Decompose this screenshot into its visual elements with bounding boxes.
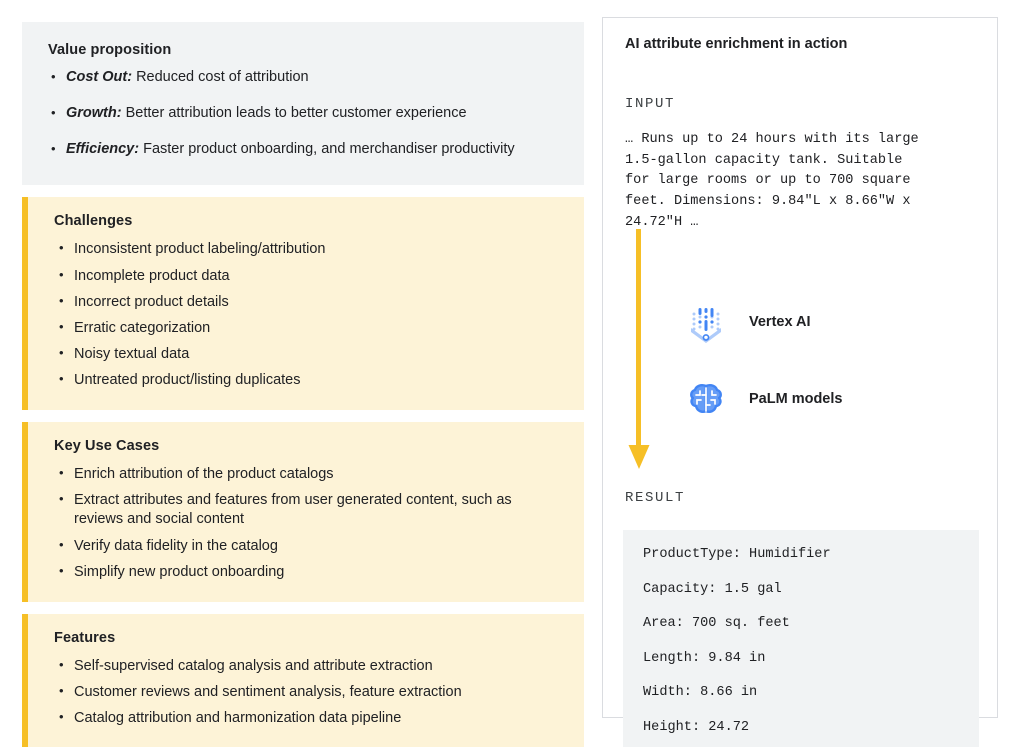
down-arrow-icon (625, 229, 653, 474)
list-item: Verify data fidelity in the catalog (54, 537, 558, 556)
list-item: Catalog attribution and harmonization da… (54, 709, 558, 728)
bullet-text: Better attribution leads to better custo… (122, 105, 467, 121)
list-item: Growth: Better attribution leads to bett… (48, 104, 558, 123)
result-line: Capacity: 1.5 gal (643, 583, 959, 597)
bullet-list-key-use-cases: Enrich attribution of the product catalo… (54, 465, 558, 582)
card-title-challenges: Challenges (54, 213, 558, 229)
slide-canvas: Value proposition Cost Out: Reduced cost… (0, 0, 1024, 747)
card-features: Features Self-supervised catalog analysi… (22, 614, 584, 747)
bullet-text: Faster product onboarding, and merchandi… (139, 141, 515, 157)
list-item: Incomplete product data (54, 267, 558, 286)
model-label-palm-models: PaLM models (749, 391, 842, 407)
card-challenges: Challenges Inconsistent product labeling… (22, 197, 584, 410)
card-title-features: Features (54, 630, 558, 646)
list-item: Extract attributes and features from use… (54, 491, 558, 529)
result-line: Length: 9.84 in (643, 652, 959, 666)
model-row-vertex-ai: Vertex AI (685, 301, 811, 343)
list-item: Enrich attribution of the product catalo… (54, 465, 558, 484)
bullet-list-challenges: Inconsistent product labeling/attributio… (54, 240, 558, 390)
list-item: Erratic categorization (54, 319, 558, 338)
result-line: Height: 24.72 (643, 721, 959, 735)
bullet-text: Reduced cost of attribution (132, 69, 309, 85)
list-item: Simplify new product onboarding (54, 563, 558, 582)
bullet-lead: Cost Out: (66, 69, 132, 85)
result-line: ProductType: Humidifier (643, 548, 959, 562)
bullet-list-value-proposition: Cost Out: Reduced cost of attribution Gr… (48, 68, 558, 159)
model-label-vertex-ai: Vertex AI (749, 314, 811, 330)
input-text: … Runs up to 24 hours with its large 1.5… (625, 130, 985, 233)
result-section-label: RESULT (625, 490, 685, 506)
bullet-lead: Efficiency: (66, 141, 139, 157)
bullet-lead: Growth: (66, 105, 122, 121)
card-key-use-cases: Key Use Cases Enrich attribution of the … (22, 422, 584, 602)
bullet-list-features: Self-supervised catalog analysis and att… (54, 657, 558, 728)
list-item: Incorrect product details (54, 293, 558, 312)
list-item: Self-supervised catalog analysis and att… (54, 657, 558, 676)
list-item: Cost Out: Reduced cost of attribution (48, 68, 558, 87)
left-column: Value proposition Cost Out: Reduced cost… (22, 22, 584, 747)
result-box: ProductType: Humidifier Capacity: 1.5 ga… (623, 530, 979, 747)
palm-models-icon (685, 378, 727, 420)
vertex-ai-icon (685, 301, 727, 343)
input-section-label: INPUT (625, 96, 675, 112)
list-item: Untreated product/listing duplicates (54, 371, 558, 390)
model-row-palm-models: PaLM models (685, 378, 842, 420)
card-value-proposition: Value proposition Cost Out: Reduced cost… (22, 22, 584, 185)
card-title-value-proposition: Value proposition (48, 42, 558, 58)
panel-title: AI attribute enrichment in action (625, 36, 975, 52)
result-line: Width: 8.66 in (643, 686, 959, 700)
list-item: Customer reviews and sentiment analysis,… (54, 683, 558, 702)
result-line: Area: 700 sq. feet (643, 617, 959, 631)
list-item: Inconsistent product labeling/attributio… (54, 240, 558, 259)
ai-enrichment-panel: AI attribute enrichment in action INPUT … (602, 17, 998, 718)
card-title-key-use-cases: Key Use Cases (54, 438, 558, 454)
list-item: Efficiency: Faster product onboarding, a… (48, 140, 558, 159)
list-item: Noisy textual data (54, 345, 558, 364)
